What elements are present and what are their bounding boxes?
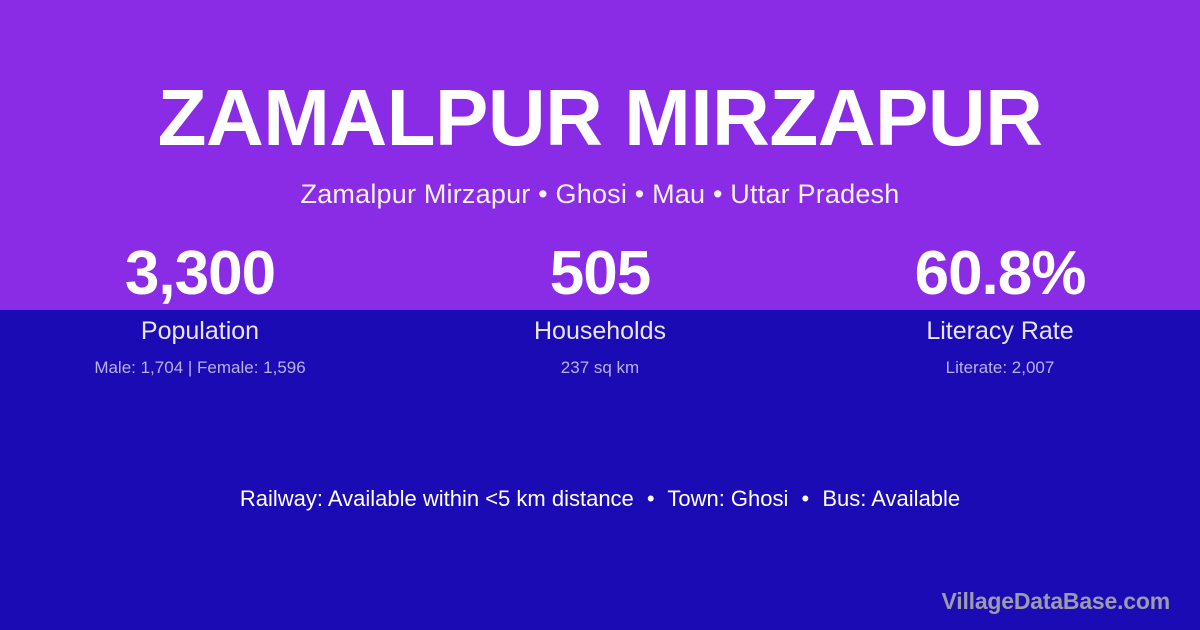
stats-row: 3,300 Population Male: 1,704 | Female: 1…: [0, 243, 1200, 377]
amenity-separator-2: •: [795, 486, 817, 511]
stat-literacy-rate: 60.8% Literacy Rate Literate: 2,007: [800, 243, 1200, 377]
stat-label-population: Population: [0, 318, 400, 346]
stat-value-population: 3,300: [0, 243, 400, 309]
amenity-town: Town: Ghosi: [667, 486, 788, 511]
stat-sub-households: 237 sq km: [400, 359, 800, 378]
card-header: ZAMALPUR MIRZAPUR Zamalpur Mirzapur • Gh…: [0, 0, 1200, 210]
stat-sub-literacy-rate: Literate: 2,007: [800, 359, 1200, 378]
stat-households: 505 Households 237 sq km: [400, 243, 800, 377]
amenities-line: Railway: Available within <5 km distance…: [0, 486, 1200, 512]
site-brand-watermark: VillageDataBase.com: [942, 588, 1170, 616]
village-info-card: ZAMALPUR MIRZAPUR Zamalpur Mirzapur • Gh…: [0, 0, 1200, 630]
page-title: ZAMALPUR MIRZAPUR: [0, 0, 1200, 158]
amenity-railway: Railway: Available within <5 km distance: [240, 486, 634, 511]
location-breadcrumb: Zamalpur Mirzapur • Ghosi • Mau • Uttar …: [0, 158, 1200, 210]
stat-population: 3,300 Population Male: 1,704 | Female: 1…: [0, 243, 400, 377]
stat-label-households: Households: [400, 318, 800, 346]
amenity-separator-1: •: [640, 486, 662, 511]
stat-value-literacy-rate: 60.8%: [800, 243, 1200, 309]
stat-label-literacy-rate: Literacy Rate: [800, 318, 1200, 346]
stat-sub-population: Male: 1,704 | Female: 1,596: [0, 359, 400, 378]
amenity-bus: Bus: Available: [822, 486, 960, 511]
stat-value-households: 505: [400, 243, 800, 309]
